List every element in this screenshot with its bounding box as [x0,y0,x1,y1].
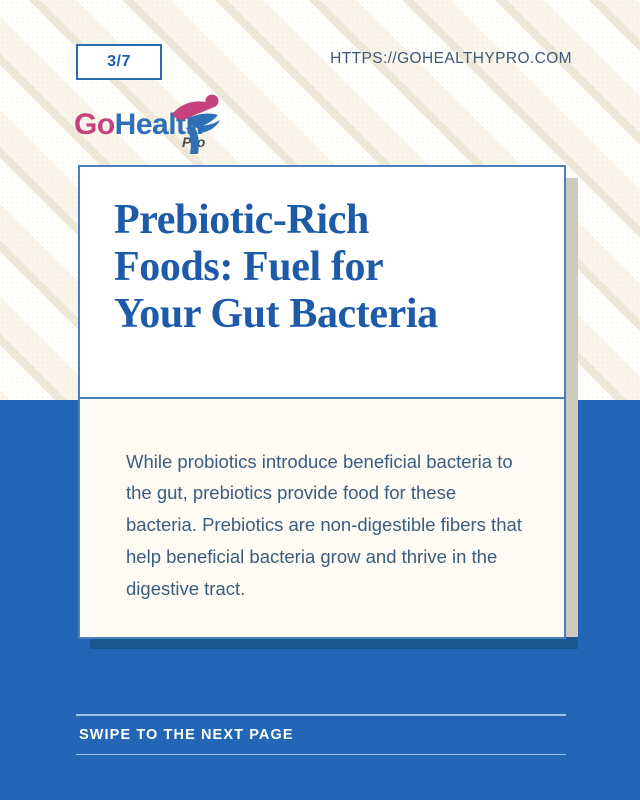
footer-rule-bottom [76,754,566,756]
content-card: Prebiotic-Rich Foods: Fuel for Your Gut … [78,165,566,639]
card-title: Prebiotic-Rich Foods: Fuel for Your Gut … [114,197,530,338]
card-shadow-right [566,178,578,640]
page-indicator-badge: 3/7 [76,44,162,80]
running-person-icon [162,92,234,156]
card-title-line-1: Prebiotic-Rich [114,197,530,244]
card-body-text: While probiotics introduce beneficial ba… [126,446,524,605]
site-url-text: HTTPS://GOHEALTHYPRO.COM [330,50,572,68]
card-title-line-2: Foods: Fuel for [114,244,530,291]
footer: SWIPE TO THE NEXT PAGE [76,714,566,755]
card-body-section: While probiotics introduce beneficial ba… [80,399,564,605]
card-title-line-3: Your Gut Bacteria [114,291,530,338]
poster-slide: 3/7 HTTPS://GOHEALTHYPRO.COM GoHealth Pr… [0,0,640,800]
card-title-section: Prebiotic-Rich Foods: Fuel for Your Gut … [80,167,564,399]
swipe-next-label: SWIPE TO THE NEXT PAGE [76,716,566,754]
brand-logo: GoHealth Pro [74,94,234,156]
brand-name-go: Go [74,108,115,141]
page-indicator-text: 3/7 [107,53,131,71]
